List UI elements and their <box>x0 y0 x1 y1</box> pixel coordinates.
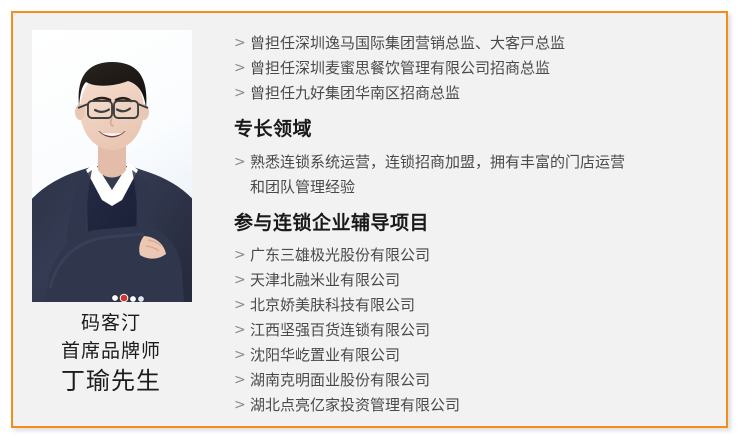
portrait-photo-illustration <box>32 30 192 302</box>
project-item-text: 湖南克明面业股份有限公司 <box>250 368 708 393</box>
chevron-right-icon: > <box>234 150 250 175</box>
list-item: > 曾担任九好集团华南区招商总监 <box>234 81 708 106</box>
chevron-right-icon: > <box>234 293 250 318</box>
expertise-item-text: 熟悉连锁系统运营，连锁招商加盟，拥有丰富的门店运营 和团队管理经验 <box>250 150 708 200</box>
profile-company: 码客汀 <box>13 309 209 337</box>
projects-heading: 参与连锁企业辅导项目 <box>234 210 708 236</box>
list-item: > 天津北融米业有限公司 <box>234 268 708 293</box>
expertise-item-line-1: 熟悉连锁系统运营，连锁招商加盟，拥有丰富的门店运营 <box>250 153 625 171</box>
list-item: > 北京娇美肤科技有限公司 <box>234 293 708 318</box>
profile-role: 首席品牌师 <box>13 337 209 365</box>
list-item: > 广东三雄极光股份有限公司 <box>234 243 708 268</box>
list-item: > 江西坚强百货连锁有限公司 <box>234 318 708 343</box>
expertise-item-line-2: 和团队管理经验 <box>250 175 708 200</box>
profile-photo <box>32 30 192 302</box>
project-item-text: 江西坚强百货连锁有限公司 <box>250 318 708 343</box>
list-item: > 曾担任深圳逸马国际集团营销总监、大客戸总监 <box>234 31 708 56</box>
project-item-text: 湖北点亮亿家投资管理有限公司 <box>250 393 708 418</box>
experience-item-text: 曾担任九好集团华南区招商总监 <box>250 81 708 106</box>
list-item: > 曾担任深圳麦蜜思餐饮管理有限公司招商总监 <box>234 56 708 81</box>
projects-list: > 广东三雄极光股份有限公司 > 天津北融米业有限公司 > 北京娇美肤科技有限公… <box>234 243 708 418</box>
project-item-text: 沈阳华屹置业有限公司 <box>250 343 708 368</box>
chevron-right-icon: > <box>234 318 250 343</box>
experience-item-text: 曾担任深圳逸马国际集团营销总监、大客戸总监 <box>250 31 708 56</box>
profile-left-column: 码客汀 首席品牌师 丁瑜先生 <box>13 13 209 426</box>
chevron-right-icon: > <box>234 243 250 268</box>
project-item-text: 北京娇美肤科技有限公司 <box>250 293 708 318</box>
projects-section: 参与连锁企业辅导项目 > 广东三雄极光股份有限公司 > 天津北融米业有限公司 >… <box>234 210 708 418</box>
list-item: > 沈阳华屹置业有限公司 <box>234 343 708 368</box>
chevron-right-icon: > <box>234 393 250 418</box>
list-item: > 熟悉连锁系统运营，连锁招商加盟，拥有丰富的门店运营 和团队管理经验 <box>234 150 708 200</box>
expertise-section: 专长领域 > 熟悉连锁系统运营，连锁招商加盟，拥有丰富的门店运营 和团队管理经验 <box>234 116 708 200</box>
expertise-heading: 专长领域 <box>234 116 708 142</box>
chevron-right-icon: > <box>234 343 250 368</box>
profile-name-block: 码客汀 首席品牌师 丁瑜先生 <box>13 309 209 398</box>
chevron-right-icon: > <box>234 31 250 56</box>
chevron-right-icon: > <box>234 56 250 81</box>
profile-card: 码客汀 首席品牌师 丁瑜先生 > 曾担任深圳逸马国际集团营销总监、大客戸总监 >… <box>11 11 728 428</box>
list-item: > 湖北点亮亿家投资管理有限公司 <box>234 393 708 418</box>
project-item-text: 天津北融米业有限公司 <box>250 268 708 293</box>
experience-list: > 曾担任深圳逸马国际集团营销总监、大客戸总监 > 曾担任深圳麦蜜思餐饮管理有限… <box>234 31 708 106</box>
project-item-text: 广东三雄极光股份有限公司 <box>250 243 708 268</box>
profile-right-column: > 曾担任深圳逸马国际集团营销总监、大客戸总监 > 曾担任深圳麦蜜思餐饮管理有限… <box>209 13 726 426</box>
chevron-right-icon: > <box>234 268 250 293</box>
chevron-right-icon: > <box>234 368 250 393</box>
list-item: > 湖南克明面业股份有限公司 <box>234 368 708 393</box>
experience-item-text: 曾担任深圳麦蜜思餐饮管理有限公司招商总监 <box>250 56 708 81</box>
chevron-right-icon: > <box>234 81 250 106</box>
profile-person-name: 丁瑜先生 <box>13 365 209 398</box>
